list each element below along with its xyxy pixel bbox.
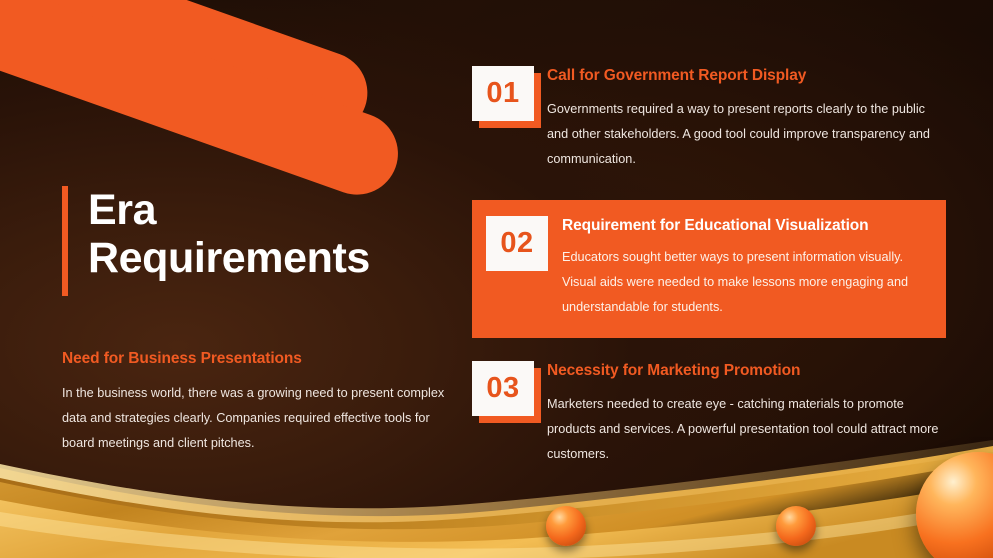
number-badge: 01 <box>472 66 542 172</box>
number-badge-label: 01 <box>486 77 519 110</box>
list-item-heading: Call for Government Report Display <box>547 66 946 85</box>
number-badge: 02 <box>486 216 548 320</box>
diagonal-bars-decoration <box>0 0 470 188</box>
title-text: Era Requirements <box>88 186 370 296</box>
list-item[interactable]: 01 Call for Government Report Display Go… <box>472 66 946 172</box>
number-badge-box: 01 <box>472 66 534 121</box>
list-item-heading: Requirement for Educational Visualizatio… <box>562 216 926 235</box>
number-badge-label: 03 <box>486 372 519 405</box>
number-badge-box: 03 <box>472 361 534 416</box>
business-presentations-block: Need for Business Presentations In the b… <box>62 350 452 455</box>
number-badge-label: 02 <box>500 227 533 260</box>
number-badge-box: 02 <box>486 216 548 271</box>
list-item-highlighted[interactable]: 02 Requirement for Educational Visualiza… <box>472 200 946 338</box>
business-presentations-heading: Need for Business Presentations <box>62 350 452 368</box>
title-accent-bar <box>62 186 68 296</box>
list-item-text: Requirement for Educational Visualizatio… <box>548 216 926 320</box>
decorative-sphere-small-right <box>776 506 816 546</box>
list-item-body: Governments required a way to present re… <box>547 97 946 171</box>
list-item-text: Necessity for Marketing Promotion Market… <box>542 361 952 467</box>
number-badge: 03 <box>472 361 542 467</box>
page-title: Era Requirements <box>62 186 370 296</box>
list-item-text: Call for Government Report Display Gover… <box>542 66 946 172</box>
slide-canvas: Era Requirements Need for Business Prese… <box>0 0 993 558</box>
list-item-body: Educators sought better ways to present … <box>562 245 926 319</box>
list-item-heading: Necessity for Marketing Promotion <box>547 361 952 380</box>
list-item-body: Marketers needed to create eye - catchin… <box>547 392 952 466</box>
decorative-sphere-small-left <box>546 506 586 546</box>
list-item[interactable]: 03 Necessity for Marketing Promotion Mar… <box>472 361 952 467</box>
business-presentations-body: In the business world, there was a growi… <box>62 381 452 455</box>
